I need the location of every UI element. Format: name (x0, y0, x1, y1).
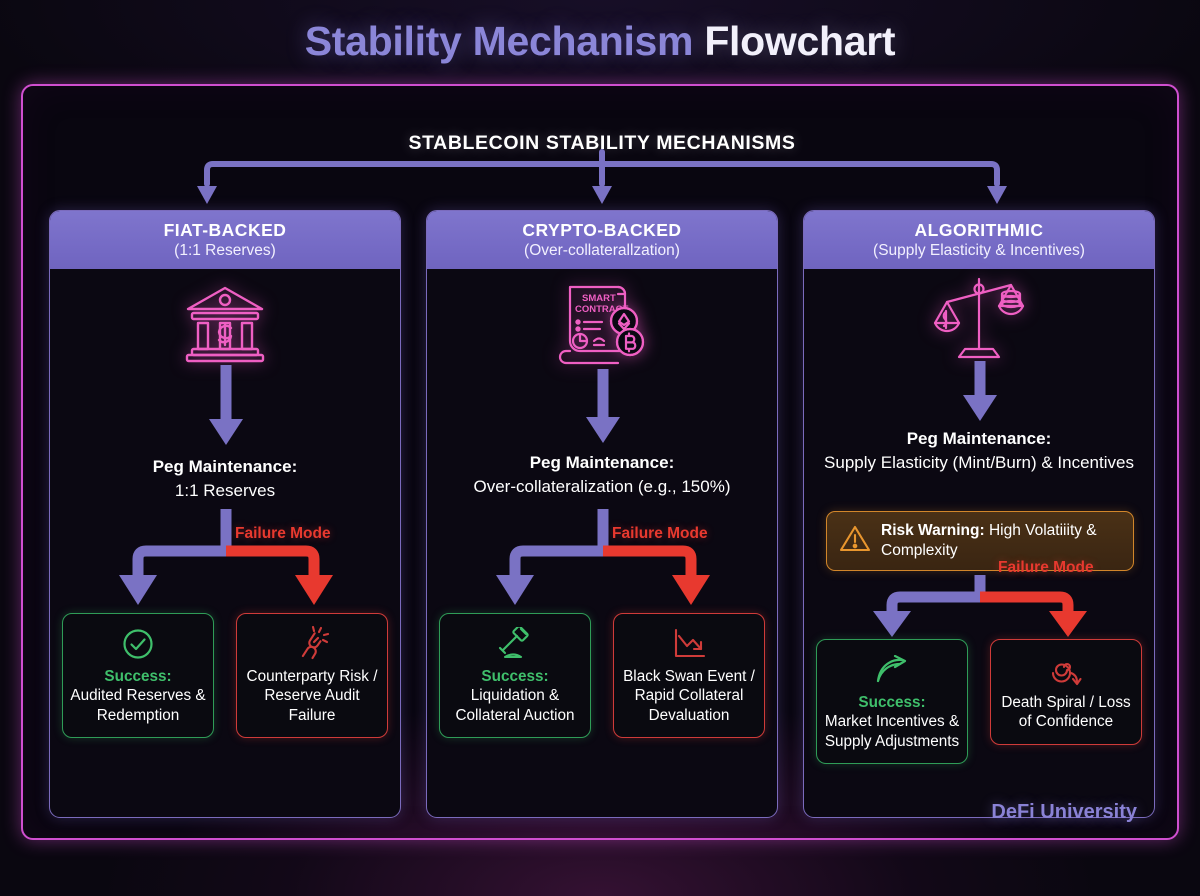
column-body-fiat-backed: Peg Maintenance: 1:1 Reserves Failure Mo… (50, 269, 400, 818)
flow-arrow-to-peg (427, 369, 778, 447)
outcome-text: Success: Liquidation & Collateral Auctio… (446, 667, 584, 725)
outcome-detail: Black Swan Event / Rapid Collateral Deva… (623, 668, 755, 724)
flow-arrow-to-peg (804, 361, 1155, 425)
column-title: ALGORITHMIC (915, 221, 1044, 241)
peg-detail: Over-collateralization (e.g., 150%) (473, 477, 730, 496)
column-fiat-backed: FIAT-BACKED (1:1 Reserves) (49, 210, 401, 818)
column-algorithmic: ALGORITHMIC (Supply Elasticity & Incenti… (803, 210, 1155, 818)
outcome-failure-crypto-backed: Black Swan Event / Rapid Collateral Deva… (613, 613, 765, 738)
brand-footer: DeFi University (991, 801, 1137, 824)
outcome-detail: Market Incentives & Supply Adjustments (825, 713, 959, 749)
infographic-canvas: Stability Mechanism Flowchart STABLECOIN… (0, 0, 1200, 896)
failure-mode-label: Failure Mode (998, 559, 1094, 577)
failure-mode-label: Failure Mode (612, 525, 708, 543)
outcome-text: Success: Market Incentives & Supply Adju… (823, 693, 961, 751)
peg-maintenance-fiat-backed: Peg Maintenance: 1:1 Reserves (56, 455, 394, 503)
title-highlight: Stability Mechanism (305, 18, 693, 64)
peg-key: Peg Maintenance: (153, 457, 298, 476)
outcome-branch-connector (427, 509, 778, 621)
peg-detail: 1:1 Reserves (175, 481, 275, 500)
outcome-detail: Audited Reserves & Redemption (70, 687, 205, 723)
risk-warning-text: Risk Warning: High Volatiiity & Complexi… (881, 521, 1121, 561)
peg-key: Peg Maintenance: (907, 429, 1052, 448)
outcome-failure-algorithmic: Death Spiral / Loss of Confidence (990, 639, 1142, 745)
column-header-algorithmic: ALGORITHMIC (Supply Elasticity & Incenti… (804, 211, 1154, 269)
column-subtitle: (1:1 Reserves) (174, 242, 276, 259)
broken-chain-icon (294, 624, 330, 664)
warning-triangle-icon (839, 524, 871, 559)
page-title: Stability Mechanism Flowchart (0, 18, 1200, 65)
column-body-crypto-backed: SMART CONTRACT (427, 269, 777, 818)
column-body-algorithmic: Peg Maintenance: Supply Elasticity (Mint… (804, 269, 1154, 818)
gavel-icon (497, 624, 533, 664)
outcome-success-fiat-backed: Success: Audited Reserves & Redemption (62, 613, 214, 738)
column-crypto-backed: CRYPTO-BACKED (Over-collaterallzation) S… (426, 210, 778, 818)
outcome-success-crypto-backed: Success: Liquidation & Collateral Auctio… (439, 613, 591, 738)
balance-scale-icon (804, 275, 1154, 361)
main-panel: STABLECOIN STABILITY MECHANISMS FIAT-BAC… (21, 84, 1179, 840)
peg-key: Peg Maintenance: (530, 453, 675, 472)
outcome-key: Success: (481, 668, 548, 685)
peg-maintenance-algorithmic: Peg Maintenance: Supply Elasticity (Mint… (810, 427, 1148, 475)
flow-arrow-to-peg (50, 365, 401, 449)
outcome-detail: Liquidation & Collateral Auction (455, 687, 574, 723)
failure-mode-label: Failure Mode (235, 525, 331, 543)
outcome-text: Black Swan Event / Rapid Collateral Deva… (620, 667, 758, 725)
peg-detail: Supply Elasticity (Mint/Burn) & Incentiv… (824, 453, 1134, 472)
title-plain: Flowchart (704, 18, 895, 64)
peg-maintenance-crypto-backed: Peg Maintenance: Over-collateralization … (433, 451, 771, 499)
check-circle-icon (121, 624, 155, 664)
chart-down-icon (671, 624, 707, 664)
column-subtitle: (Supply Elasticity & Incentives) (873, 242, 1085, 259)
svg-text:SMART: SMART (582, 293, 616, 304)
outcome-branch-connector (50, 509, 401, 621)
root-node-label: STABLECOIN STABILITY MECHANISMS (23, 132, 1181, 155)
outcome-key: Success: (858, 694, 925, 711)
outcome-success-algorithmic: Success: Market Incentives & Supply Adju… (816, 639, 968, 764)
spiral-icon (1049, 650, 1083, 690)
outcome-detail: Counterparty Risk / Reserve Audit Failur… (247, 668, 378, 724)
outcome-text: Success: Audited Reserves & Redemption (69, 667, 207, 725)
column-subtitle: (Over-collaterallzation) (524, 242, 680, 259)
outcome-branch-connector (804, 575, 1155, 641)
outcome-failure-fiat-backed: Counterparty Risk / Reserve Audit Failur… (236, 613, 388, 738)
column-title: CRYPTO-BACKED (522, 221, 681, 241)
column-header-fiat-backed: FIAT-BACKED (1:1 Reserves) (50, 211, 400, 269)
column-header-crypto-backed: CRYPTO-BACKED (Over-collaterallzation) (427, 211, 777, 269)
risk-warning-key: Risk Warning: (881, 522, 985, 539)
growth-arrow-icon (874, 650, 910, 690)
outcome-detail: Death Spiral / Loss of Confidence (1001, 694, 1130, 730)
bank-icon (50, 283, 400, 363)
outcome-text: Death Spiral / Loss of Confidence (997, 693, 1135, 732)
outcome-text: Counterparty Risk / Reserve Audit Failur… (243, 667, 381, 725)
smart-contract-icon: SMART CONTRACT (427, 281, 777, 367)
column-title: FIAT-BACKED (164, 221, 287, 241)
outcome-key: Success: (104, 668, 171, 685)
